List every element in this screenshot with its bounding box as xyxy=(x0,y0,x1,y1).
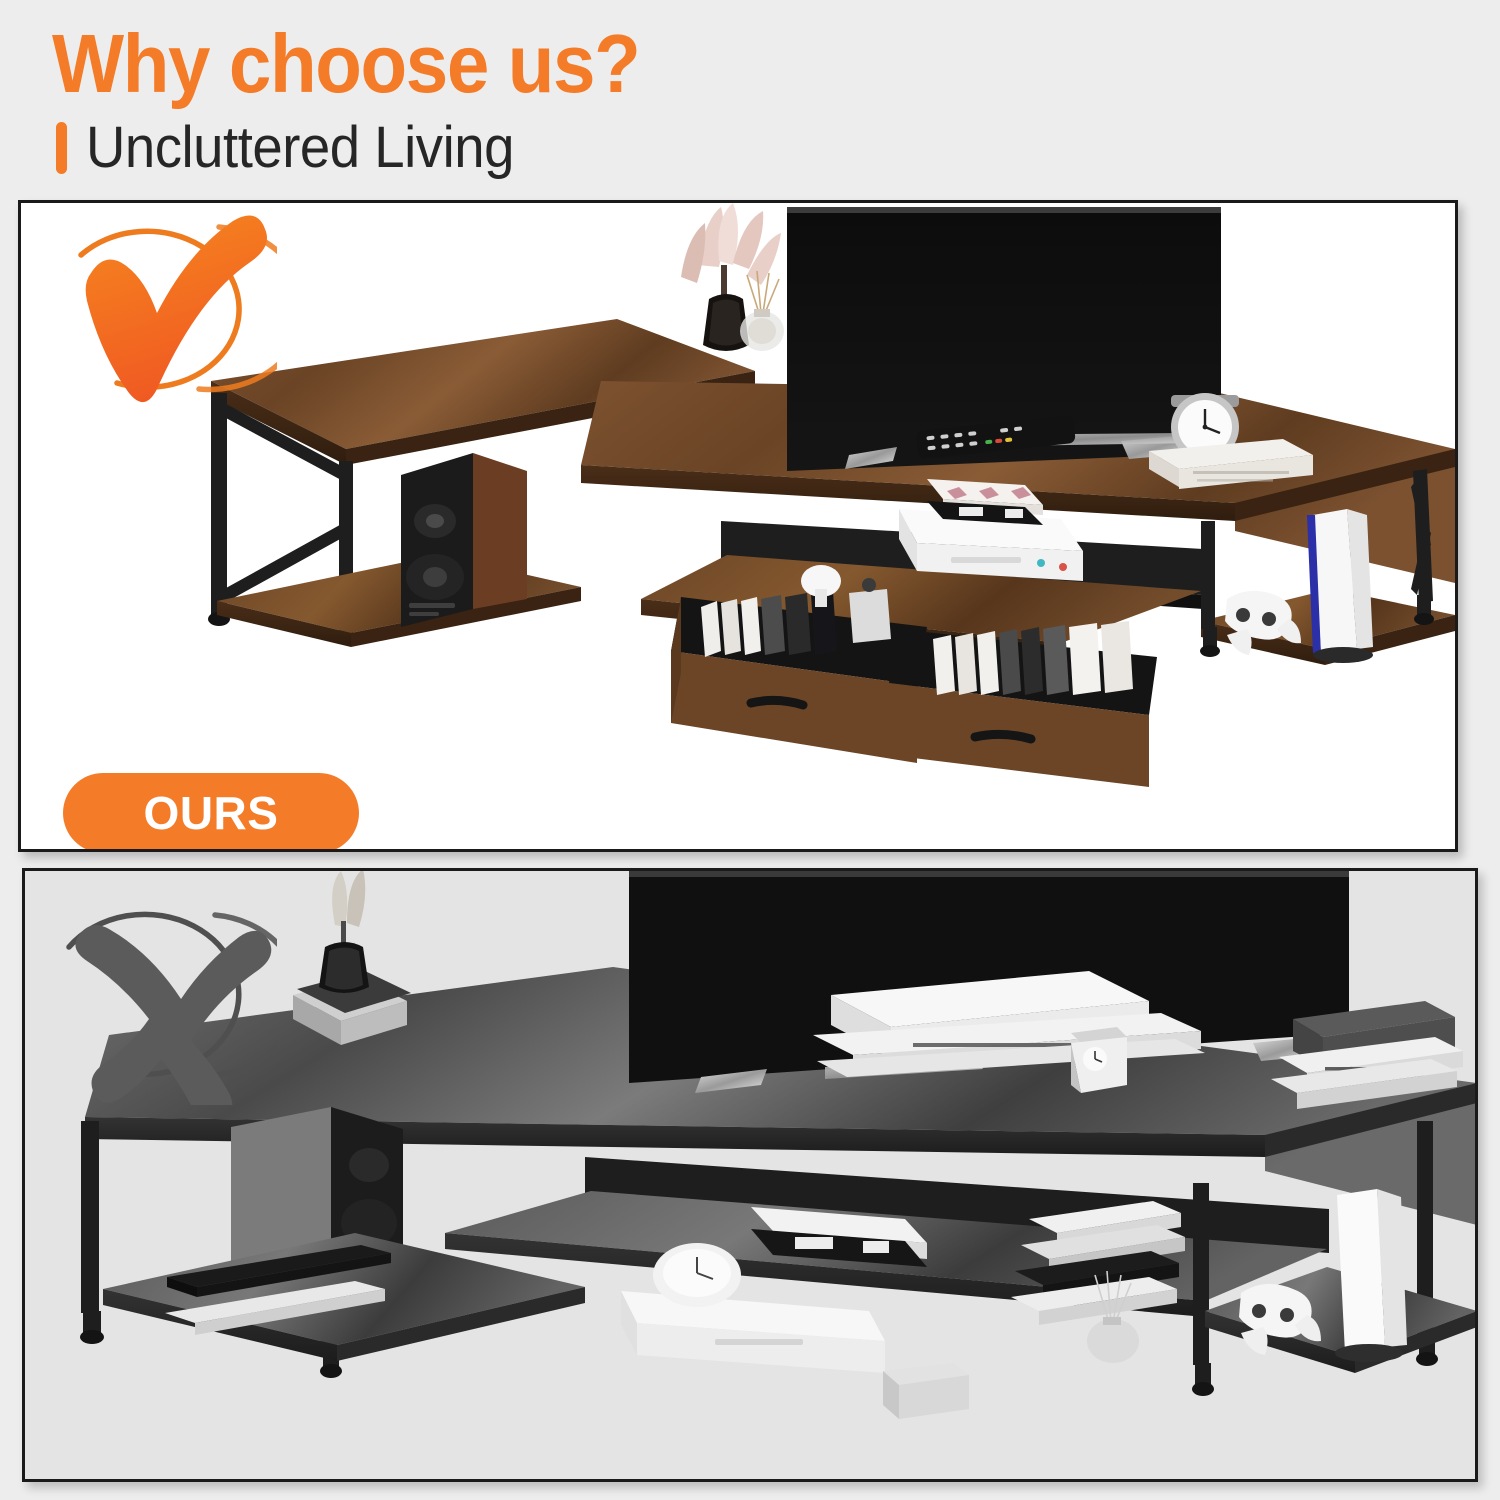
ours-badge: OURS xyxy=(63,773,359,852)
page-subtitle: Uncluttered Living xyxy=(86,119,514,177)
ours-badge-label: OURS xyxy=(144,786,279,840)
orange-check-mark-icon xyxy=(47,211,277,421)
ours-panel: OURS Maintaining a tidy space xyxy=(18,200,1458,852)
infographic-page: Why choose us? Uncluttered Living xyxy=(0,0,1500,1500)
gray-cross-mark-icon xyxy=(39,893,277,1105)
header: Why choose us? Uncluttered Living xyxy=(52,22,1352,177)
orange-accent-bar xyxy=(56,122,67,174)
page-title: Why choose us? xyxy=(52,22,1248,105)
subtitle-row: Uncluttered Living xyxy=(56,119,1352,177)
others-panel: OTHERS Cluttered Space xyxy=(22,868,1478,1482)
